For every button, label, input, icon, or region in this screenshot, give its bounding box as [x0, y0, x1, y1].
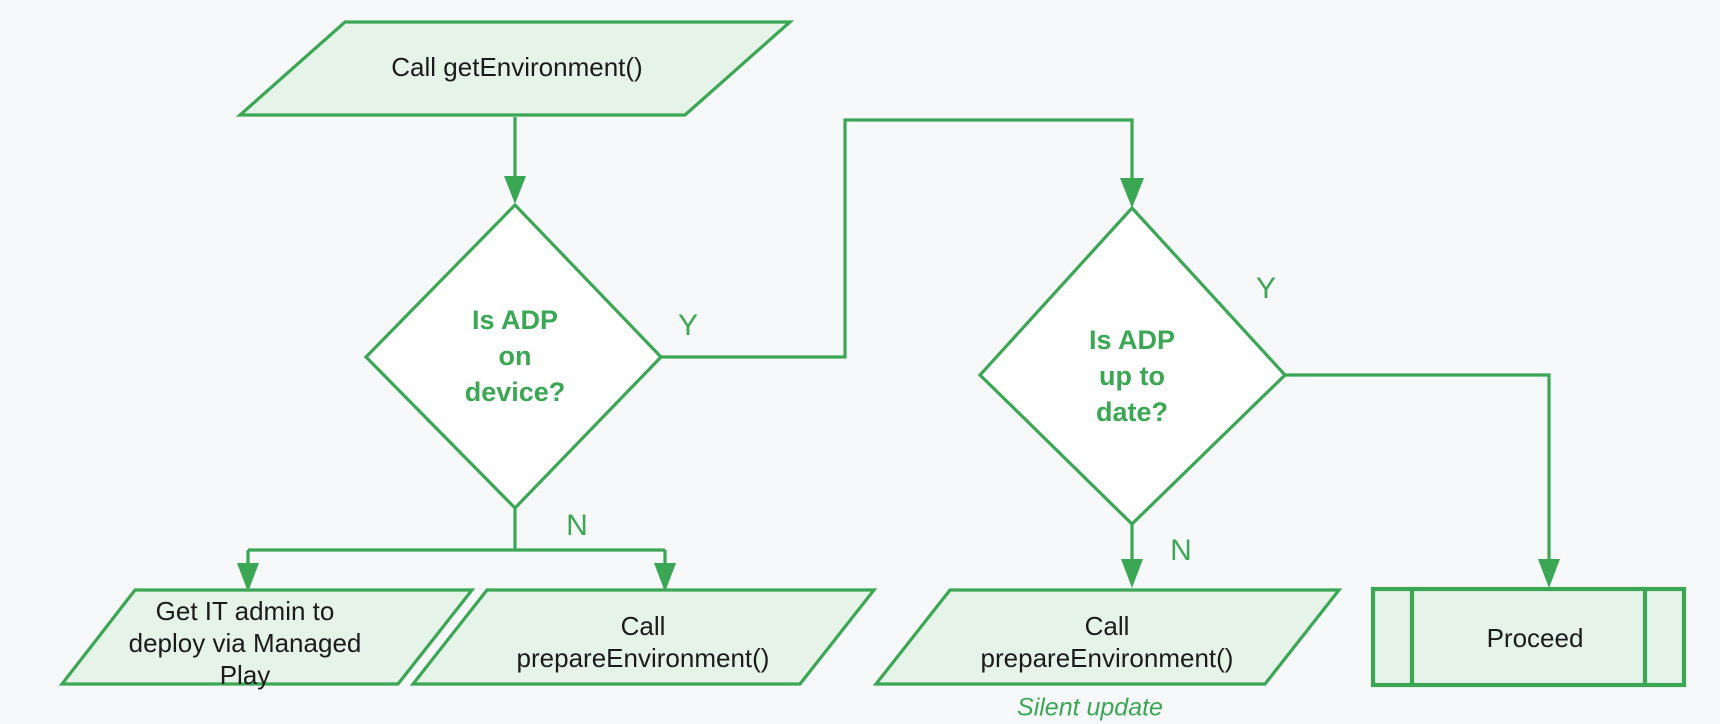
flowchart-canvas: Call getEnvironment() Is ADP on device? …	[0, 0, 1720, 724]
node-get-it-admin-deploy[interactable]: Get IT admin to deploy via Managed Play	[62, 590, 472, 690]
node-call-prepare-environment-right[interactable]: Call prepareEnvironment()	[876, 590, 1339, 684]
edge-label-on-device-no: N	[566, 509, 588, 542]
node-proceed[interactable]: Proceed	[1373, 589, 1684, 685]
decision-label-line-3: device?	[465, 377, 566, 407]
arrowhead-on-device-yes-to-up-to-date	[1120, 178, 1144, 208]
flowchart-svg: Call getEnvironment() Is ADP on device? …	[0, 0, 1720, 724]
node-is-adp-on-device[interactable]: Is ADP on device?	[366, 205, 661, 508]
arrowhead-up-to-date-no	[1121, 559, 1143, 588]
arrowhead-to-get-it-admin	[237, 563, 259, 592]
node-is-adp-up-to-date[interactable]: Is ADP up to date?	[980, 208, 1285, 524]
arrowhead-to-prepare-environment-left	[654, 563, 676, 592]
connector-on-device-no-bus	[248, 508, 665, 578]
connector-up-to-date-yes-to-proceed	[1285, 375, 1549, 570]
node-label-line-2: prepareEnvironment()	[517, 643, 770, 673]
decision-label-line-1: Is ADP	[472, 305, 558, 335]
node-label-line-3: Play	[220, 660, 271, 690]
edge-label-on-device-yes: Y	[678, 309, 698, 342]
decision-label-line-2: up to	[1099, 361, 1165, 391]
node-label-line-1: Call	[621, 611, 666, 641]
node-label-line-2: prepareEnvironment()	[981, 643, 1234, 673]
node-label-call-get-environment: Call getEnvironment()	[391, 52, 642, 82]
node-call-get-environment[interactable]: Call getEnvironment()	[240, 22, 790, 115]
node-label-line-1: Get IT admin to	[156, 596, 335, 626]
node-call-prepare-environment-left[interactable]: Call prepareEnvironment()	[413, 590, 874, 684]
node-label-line-2: deploy via Managed	[129, 628, 362, 658]
edge-label-up-to-date-yes: Y	[1256, 272, 1276, 305]
arrowhead-up-to-date-yes-to-proceed	[1538, 559, 1560, 588]
node-label-line-1: Call	[1085, 611, 1130, 641]
arrowhead-start-to-decision-on-device	[504, 176, 526, 204]
edge-label-up-to-date-no: N	[1170, 534, 1192, 567]
node-label-proceed: Proceed	[1487, 623, 1584, 653]
annotation-silent-update: Silent update	[1017, 694, 1163, 722]
decision-label-line-1: Is ADP	[1089, 325, 1175, 355]
decision-label-line-2: on	[499, 341, 532, 371]
decision-label-line-3: date?	[1096, 397, 1168, 427]
